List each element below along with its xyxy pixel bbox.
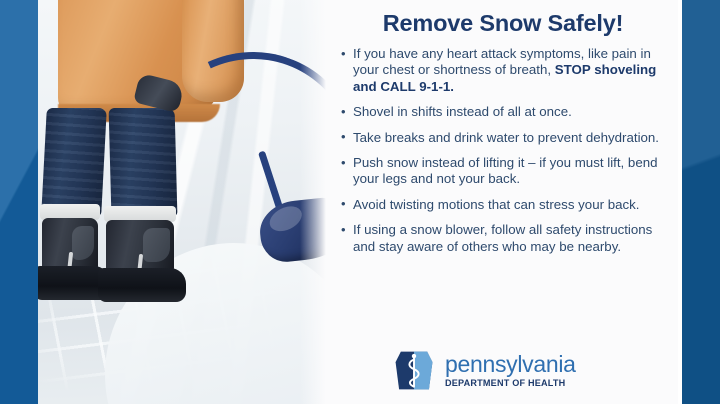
content-panel: Remove Snow Safely! If you have any hear… — [326, 0, 678, 404]
person-shoveling-snow-photo — [38, 0, 326, 404]
list-item: Shovel in shifts instead of all at once. — [340, 104, 666, 120]
bullet-text: Push snow instead of lifting it – if you… — [353, 155, 658, 186]
list-item: If you have any heart attack symptoms, l… — [340, 46, 666, 95]
bullet-text: If using a snow blower, follow all safet… — [353, 222, 652, 253]
bullet-text: Shovel in shifts instead of all at once. — [353, 104, 572, 119]
list-item: Take breaks and drink water to prevent d… — [340, 130, 666, 146]
logo-name: pennsylvania — [445, 353, 576, 376]
list-item: If using a snow blower, follow all safet… — [340, 222, 666, 255]
bullet-text: Avoid twisting motions that can stress y… — [353, 197, 640, 212]
logo-wordmark: pennsylvania DEPARTMENT OF HEALTH — [445, 353, 576, 388]
right-accent-bar — [682, 0, 720, 404]
photo-edge-fade — [300, 0, 326, 404]
bullet-text: Take breaks and drink water to prevent d… — [353, 130, 659, 145]
page-title: Remove Snow Safely! — [326, 0, 678, 37]
list-item: Avoid twisting motions that can stress y… — [340, 197, 666, 213]
boot-sole — [98, 268, 186, 302]
logo-subtitle: DEPARTMENT OF HEALTH — [445, 379, 576, 388]
winter-boot-left — [40, 204, 100, 300]
keystone-caduceus-icon — [392, 349, 436, 392]
list-item: Push snow instead of lifting it – if you… — [340, 155, 666, 188]
safety-tips-list: If you have any heart attack symptoms, l… — [326, 46, 678, 255]
jeans-left-leg — [41, 108, 107, 216]
jeans-folds — [41, 108, 107, 216]
snow-safety-slide: Remove Snow Safely! If you have any hear… — [0, 0, 720, 404]
pennsylvania-doh-logo: pennsylvania DEPARTMENT OF HEALTH — [392, 349, 576, 392]
left-accent-bar — [0, 0, 38, 404]
